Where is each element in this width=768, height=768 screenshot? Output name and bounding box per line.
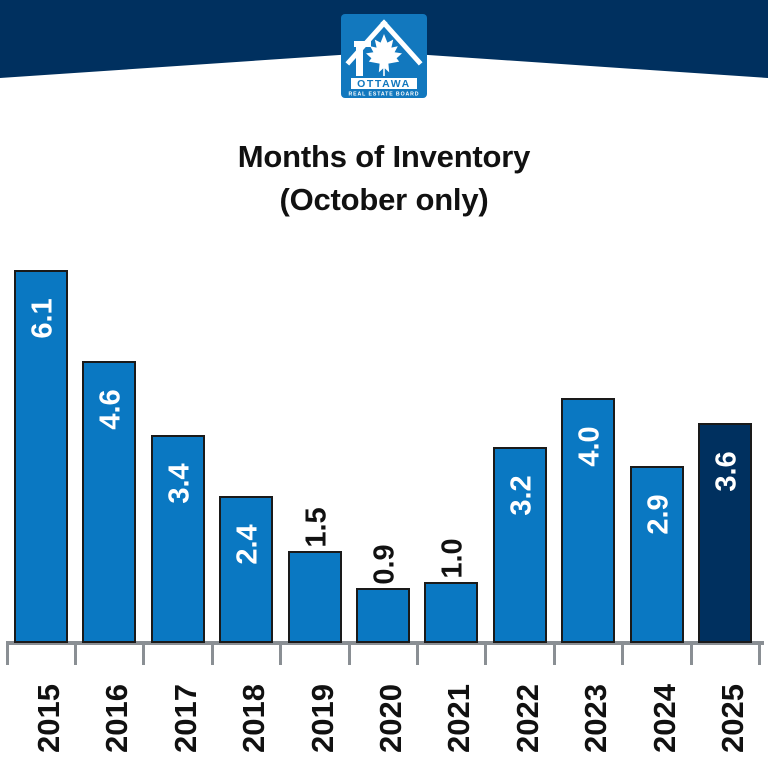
x-axis-tick (621, 645, 624, 665)
x-axis-tick (416, 645, 419, 665)
bar-2021[interactable]: 1.0 (424, 582, 478, 643)
x-axis-tick (211, 645, 214, 665)
bar-value-label-2023: 4.0 (563, 410, 617, 466)
bar-value-label-2024: 2.9 (632, 478, 686, 534)
bar-value-label-2019: 1.5 (290, 491, 344, 547)
x-axis-tick (142, 645, 145, 665)
bar-2024[interactable]: 2.9 (630, 466, 684, 643)
bar-value-label-2020: 0.9 (358, 528, 412, 584)
bar-value-label-2016: 4.6 (84, 373, 138, 429)
x-axis-label-2015: 2015 (14, 663, 68, 694)
bar-chart-plot: 6.120154.620163.420172.420181.520190.920… (0, 0, 768, 768)
bar-2015[interactable]: 6.1 (14, 270, 68, 643)
x-axis-label-2020: 2020 (356, 663, 410, 694)
x-axis-tick (6, 645, 9, 665)
x-axis-label-2024: 2024 (630, 663, 684, 694)
x-axis-label-2017: 2017 (151, 663, 205, 694)
bar-value-label-2021: 1.0 (426, 522, 480, 578)
bar-2022[interactable]: 3.2 (493, 447, 547, 643)
x-axis-tick (553, 645, 556, 665)
bar-value-label-2025: 3.6 (700, 435, 754, 491)
bar-2017[interactable]: 3.4 (151, 435, 205, 643)
x-axis-tick (348, 645, 351, 665)
x-axis-label-2021: 2021 (424, 663, 478, 694)
bar-2025[interactable]: 3.6 (698, 423, 752, 643)
bar-2020[interactable]: 0.9 (356, 588, 410, 643)
x-axis-label-2025: 2025 (698, 663, 752, 694)
x-axis-label-2022: 2022 (493, 663, 547, 694)
bar-2023[interactable]: 4.0 (561, 398, 615, 643)
bar-value-label-2022: 3.2 (495, 459, 549, 515)
x-axis-tick (74, 645, 77, 665)
bar-2016[interactable]: 4.6 (82, 361, 136, 643)
bar-value-label-2015: 6.1 (16, 282, 70, 338)
chart-page: OTTAWA REAL ESTATE BOARD Months of Inven… (0, 0, 768, 768)
bar-value-label-2017: 3.4 (153, 447, 207, 503)
x-axis-tick (690, 645, 693, 665)
bar-2019[interactable]: 1.5 (288, 551, 342, 643)
x-axis-label-2016: 2016 (82, 663, 136, 694)
x-axis-tick (484, 645, 487, 665)
x-axis-label-2023: 2023 (561, 663, 615, 694)
bar-value-label-2018: 2.4 (221, 508, 275, 564)
x-axis-label-2018: 2018 (219, 663, 273, 694)
x-axis-label-2019: 2019 (288, 663, 342, 694)
x-axis-tick (279, 645, 282, 665)
x-axis-tick (758, 645, 761, 665)
bar-2018[interactable]: 2.4 (219, 496, 273, 643)
